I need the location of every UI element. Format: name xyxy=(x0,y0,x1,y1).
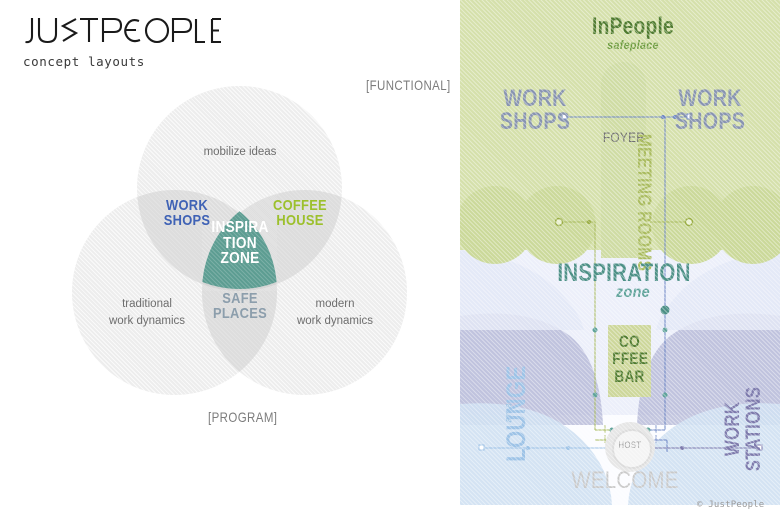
venn-label-coffee-house: COFFEE HOUSE xyxy=(266,198,335,228)
venn-label-traditional: traditional work dynamics xyxy=(82,296,212,329)
zone-coffee-bar-line3: BAR xyxy=(612,368,646,385)
zone-meeting-rooms: MEETING ROOMS xyxy=(634,134,652,224)
zone-workshops-left: WORK SHOPS xyxy=(498,88,572,134)
venn-label-inspiration-line3: ZONE xyxy=(209,251,271,267)
venn-label-coffee-house-line1: COFFEE xyxy=(266,198,335,213)
axis-label-program: [PROGRAM] xyxy=(208,409,277,425)
venn-label-mobilize-ideas: mobilize ideas xyxy=(170,146,310,158)
right-panel-floorplan: HOST InPeople safeplace WORK SHOPS WORK … xyxy=(460,0,780,505)
meeting-circle-2 xyxy=(518,186,596,264)
venn-label-traditional-line1: traditional xyxy=(82,296,212,313)
concept-layouts-page: concept layouts [FUNCTIONAL] [PROGRAM] xyxy=(0,0,780,521)
venn-label-work-shops-line1: WORK xyxy=(155,198,219,213)
venn-label-coffee-house-line2: HOUSE xyxy=(266,213,335,228)
zone-welcome: WELCOME xyxy=(561,470,689,493)
zone-workshops-right-line2: SHOPS xyxy=(673,111,747,134)
zone-coffee-bar-line2: FFEE xyxy=(612,350,646,367)
zone-work-stations-line2: STATIONS xyxy=(743,385,764,473)
zone-work-stations: WORK STATIONS xyxy=(722,385,764,473)
zone-coffee-bar: CO FFEE BAR xyxy=(612,333,646,385)
venn-label-modern-line2: work dynamics xyxy=(270,313,400,330)
venn-label-traditional-line2: work dynamics xyxy=(82,313,212,330)
venn-label-inspiration-line2: TION xyxy=(209,236,271,252)
venn-label-safe-places-line1: SAFE xyxy=(206,291,275,306)
justpeople-logo xyxy=(22,16,222,46)
left-panel: concept layouts [FUNCTIONAL] [PROGRAM] xyxy=(0,0,460,521)
zone-work-stations-line1: WORK xyxy=(722,385,743,473)
zone-lounge: LOUNGE xyxy=(504,380,530,462)
venn-label-safe-places: SAFE PLACES xyxy=(206,291,275,321)
venn-label-inspiration-line1: INSPIRA xyxy=(209,220,271,236)
copyright-credit: © JustPeople xyxy=(697,500,764,510)
venn-label-safe-places-line2: PLACES xyxy=(206,306,275,321)
venn-label-modern-line1: modern xyxy=(270,296,400,313)
zone-coffee-bar-line1: CO xyxy=(612,333,646,350)
venn-label-modern: modern work dynamics xyxy=(270,296,400,329)
zone-workshops-left-line2: SHOPS xyxy=(498,111,572,134)
inpeople-title: InPeople xyxy=(589,16,677,39)
zone-inspiration-sub: zone xyxy=(584,285,683,300)
venn-diagram: mobilize ideas traditional work dynamics… xyxy=(72,86,407,396)
zone-inspiration: INSPIRATION xyxy=(550,262,698,286)
zone-workshops-right: WORK SHOPS xyxy=(673,88,747,134)
tagline: concept layouts xyxy=(23,54,145,69)
venn-label-inspiration-zone: INSPIRA TION ZONE xyxy=(209,220,271,267)
host-label: HOST xyxy=(615,440,646,450)
inpeople-subtitle: safeplace xyxy=(584,40,683,51)
